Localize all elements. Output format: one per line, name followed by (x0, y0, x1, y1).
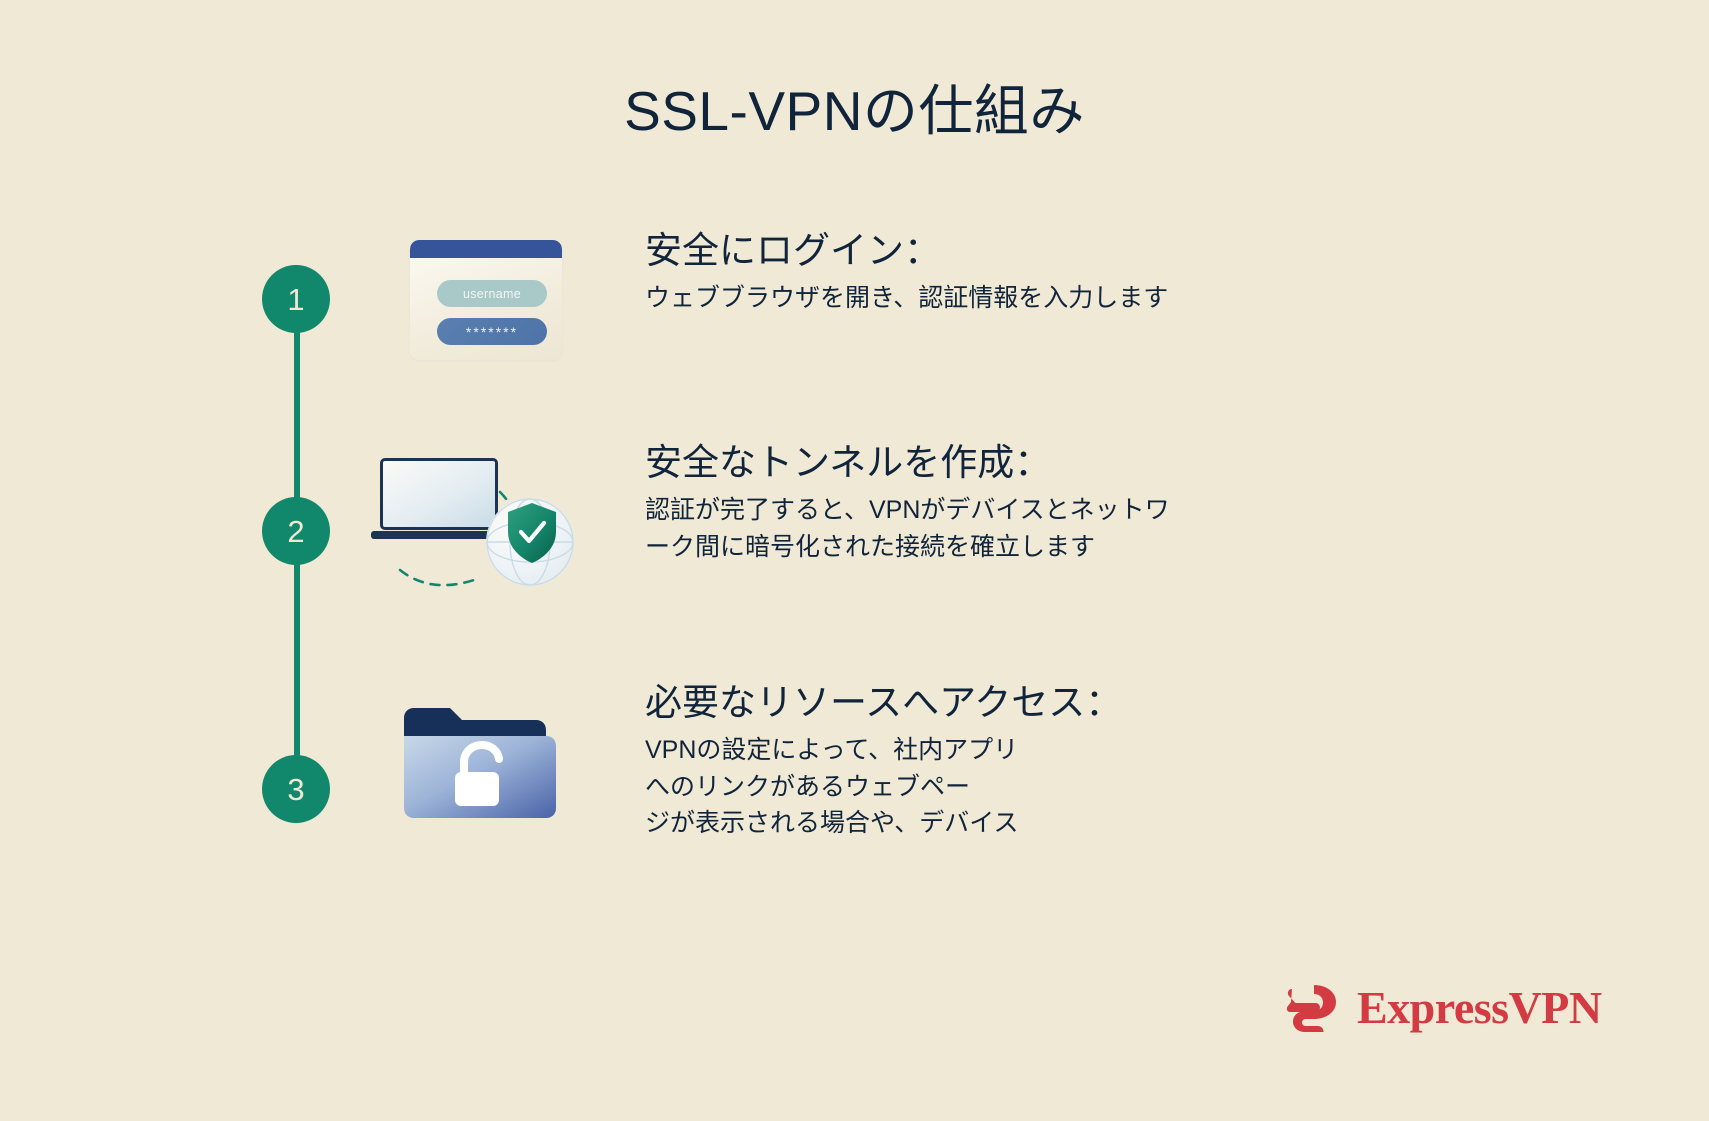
step-body-line: ウェブブラウザを開き、認証情報を入力します (645, 280, 1465, 316)
login-card-graphic: username ******* (410, 240, 562, 360)
folder-graphic (398, 700, 558, 824)
step-body-line: ジが表示される場合や、デバイス (645, 805, 1465, 841)
step-body-line: VPNの設定によって、社内アプリ (645, 732, 1465, 768)
step-text-3: 必要なリソースへアクセス： VPNの設定によって、社内アプリ へのリンクがあるウ… (645, 680, 1465, 841)
expressvpn-logo-mark-icon (1285, 980, 1341, 1036)
step-text-2: 安全なトンネルを作成： 認証が完了すると、VPNがデバイスとネットワ ーク間に暗… (645, 440, 1465, 565)
page-title: SSL-VPNの仕組み (0, 78, 1709, 144)
step-body-2: 認証が完了すると、VPNがデバイスとネットワ ーク間に暗号化された接続を確立しま… (645, 492, 1465, 565)
infographic-canvas: SSL-VPNの仕組み 1 2 3 username ******* 安全にログ… (0, 0, 1709, 1121)
step-text-1: 安全にログイン： ウェブブラウザを開き、認証情報を入力します (645, 228, 1465, 317)
step-body-line: へのリンクがあるウェブペー (645, 769, 1465, 805)
expressvpn-logo-text: ExpressVPN (1357, 985, 1602, 1031)
login-card-titlebar (410, 240, 562, 258)
step-number-badge-1: 1 (262, 265, 330, 333)
shield-check-icon (506, 502, 558, 564)
step-body-line: 認証が完了すると、VPNがデバイスとネットワ (645, 492, 1465, 528)
step-heading-1: 安全にログイン： (645, 228, 1465, 274)
laptop-shield-globe-icon (380, 440, 610, 620)
password-field: ******* (437, 318, 547, 345)
step-number-badge-3: 3 (262, 755, 330, 823)
step-body-3: VPNの設定によって、社内アプリ へのリンクがあるウェブペー ジが表示される場合… (645, 732, 1465, 841)
timeline: 1 2 3 (262, 265, 332, 835)
unlocked-folder-icon (380, 680, 610, 860)
step-heading-3: 必要なリソースへアクセス： (645, 680, 1465, 726)
laptop-screen (380, 458, 498, 530)
username-field: username (437, 280, 547, 307)
step-body-line: ーク間に暗号化された接続を確立します (645, 529, 1465, 565)
expressvpn-logo: ExpressVPN (1285, 980, 1602, 1036)
step-number-badge-2: 2 (262, 497, 330, 565)
step-body-1: ウェブブラウザを開き、認証情報を入力します (645, 280, 1465, 316)
login-card-icon: username ******* (380, 228, 610, 408)
step-heading-2: 安全なトンネルを作成： (645, 440, 1465, 486)
